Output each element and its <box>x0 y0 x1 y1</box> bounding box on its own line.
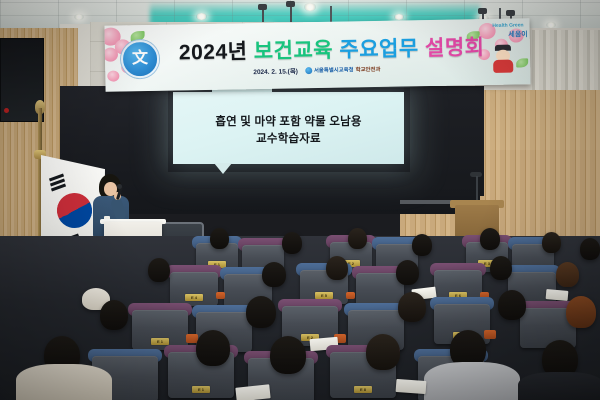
audience-head <box>148 258 170 282</box>
audience-head <box>542 232 561 253</box>
banner-date: 2024. 2. 15.(목) <box>253 65 298 76</box>
lectern-microphone-stem <box>476 176 478 202</box>
audience-head <box>412 234 432 256</box>
slide-line-2: 교수학습자료 <box>173 131 404 148</box>
org-secondary-label: 학교안전과 <box>356 65 381 73</box>
microphone-head-icon <box>117 184 122 189</box>
seat-number-plate: E 4 <box>185 294 203 301</box>
spotlight-head <box>286 1 295 7</box>
audience-head <box>580 238 600 260</box>
event-banner: 文 2024년 보건교육 주요업무 설명회 2024. 2. 15.(목) 서울… <box>104 18 530 91</box>
spotlight-head <box>258 4 267 10</box>
banner-title-year: 2024년 <box>179 40 248 64</box>
display-power-led-icon <box>4 108 9 113</box>
handout-paper <box>546 289 569 301</box>
slide-line-1: 흡연 및 마약 포함 약물 오남용 <box>173 114 404 131</box>
audience-head <box>498 290 526 320</box>
seat-number-plate: E 1 <box>151 338 169 345</box>
seat[interactable]: E 1 <box>132 310 188 350</box>
seat-number-plate: E 8 <box>354 386 372 393</box>
seat-number-plate: E 1 <box>192 386 210 393</box>
org-primary-label: 서울특별시교육청 <box>314 65 354 74</box>
audience-head <box>100 300 128 330</box>
spotlight-head <box>506 10 515 16</box>
mascot-label: 세움이 <box>508 29 527 39</box>
audience-shoulders <box>424 362 520 400</box>
mascot-body <box>493 60 513 73</box>
conference-hall-photo: 흡연 및 마약 포함 약물 오남용 교수학습자료 文 2024년 <box>0 0 600 400</box>
audience-head <box>566 296 596 328</box>
ceiling-downlight <box>304 3 316 11</box>
audience-head <box>396 260 419 285</box>
seat-armrest <box>216 292 225 299</box>
banner-title-green: 보건교육 <box>254 39 334 63</box>
audience-head <box>348 228 367 249</box>
banner-title-pink: 설명회 <box>425 36 485 60</box>
seat-armrest <box>484 330 496 339</box>
banner-organization: 서울특별시교육청 학교안전과 <box>305 65 381 74</box>
audience-head <box>270 336 306 374</box>
handout-paper <box>396 379 427 394</box>
ceiling-downlight <box>196 13 207 20</box>
audience-head <box>556 262 579 287</box>
banner-title: 2024년 보건교육 주요업무 설명회 <box>179 31 469 66</box>
mascot-character-icon <box>490 45 517 75</box>
audience-shoulders <box>518 372 600 400</box>
audience-head <box>246 296 276 328</box>
audience-head <box>480 228 500 250</box>
audience-head <box>262 262 286 287</box>
audience-head <box>326 256 348 280</box>
ceiling-downlight <box>74 14 84 20</box>
handout-paper <box>235 384 270 400</box>
audience-head <box>366 334 400 370</box>
projection-screen: 흡연 및 마약 포함 약물 오남용 교수학습자료 <box>173 92 404 164</box>
audience-head <box>398 292 426 322</box>
spotlight-head <box>478 8 487 14</box>
slide-speech-bubble-tail <box>214 163 232 174</box>
slide-text-block: 흡연 및 마약 포함 약물 오남용 교수학습자료 <box>173 114 404 147</box>
org-logo-icon <box>305 67 312 74</box>
audience-head <box>210 228 229 249</box>
audience-head <box>490 256 512 280</box>
banner-title-blue: 주요업무 <box>339 37 419 61</box>
mascot-label-small: Health Green <box>492 22 523 29</box>
seat[interactable]: E 4 <box>170 272 218 306</box>
ceiling-downlight <box>394 14 404 20</box>
audience-head <box>196 330 230 366</box>
audience-shoulders <box>16 364 112 400</box>
seat-armrest <box>346 292 355 299</box>
audience-head <box>282 232 302 254</box>
seat-number-plate: E 5 <box>315 292 333 299</box>
stage-backdrop-right <box>404 86 484 196</box>
emblem-glyph: 文 <box>132 51 148 67</box>
